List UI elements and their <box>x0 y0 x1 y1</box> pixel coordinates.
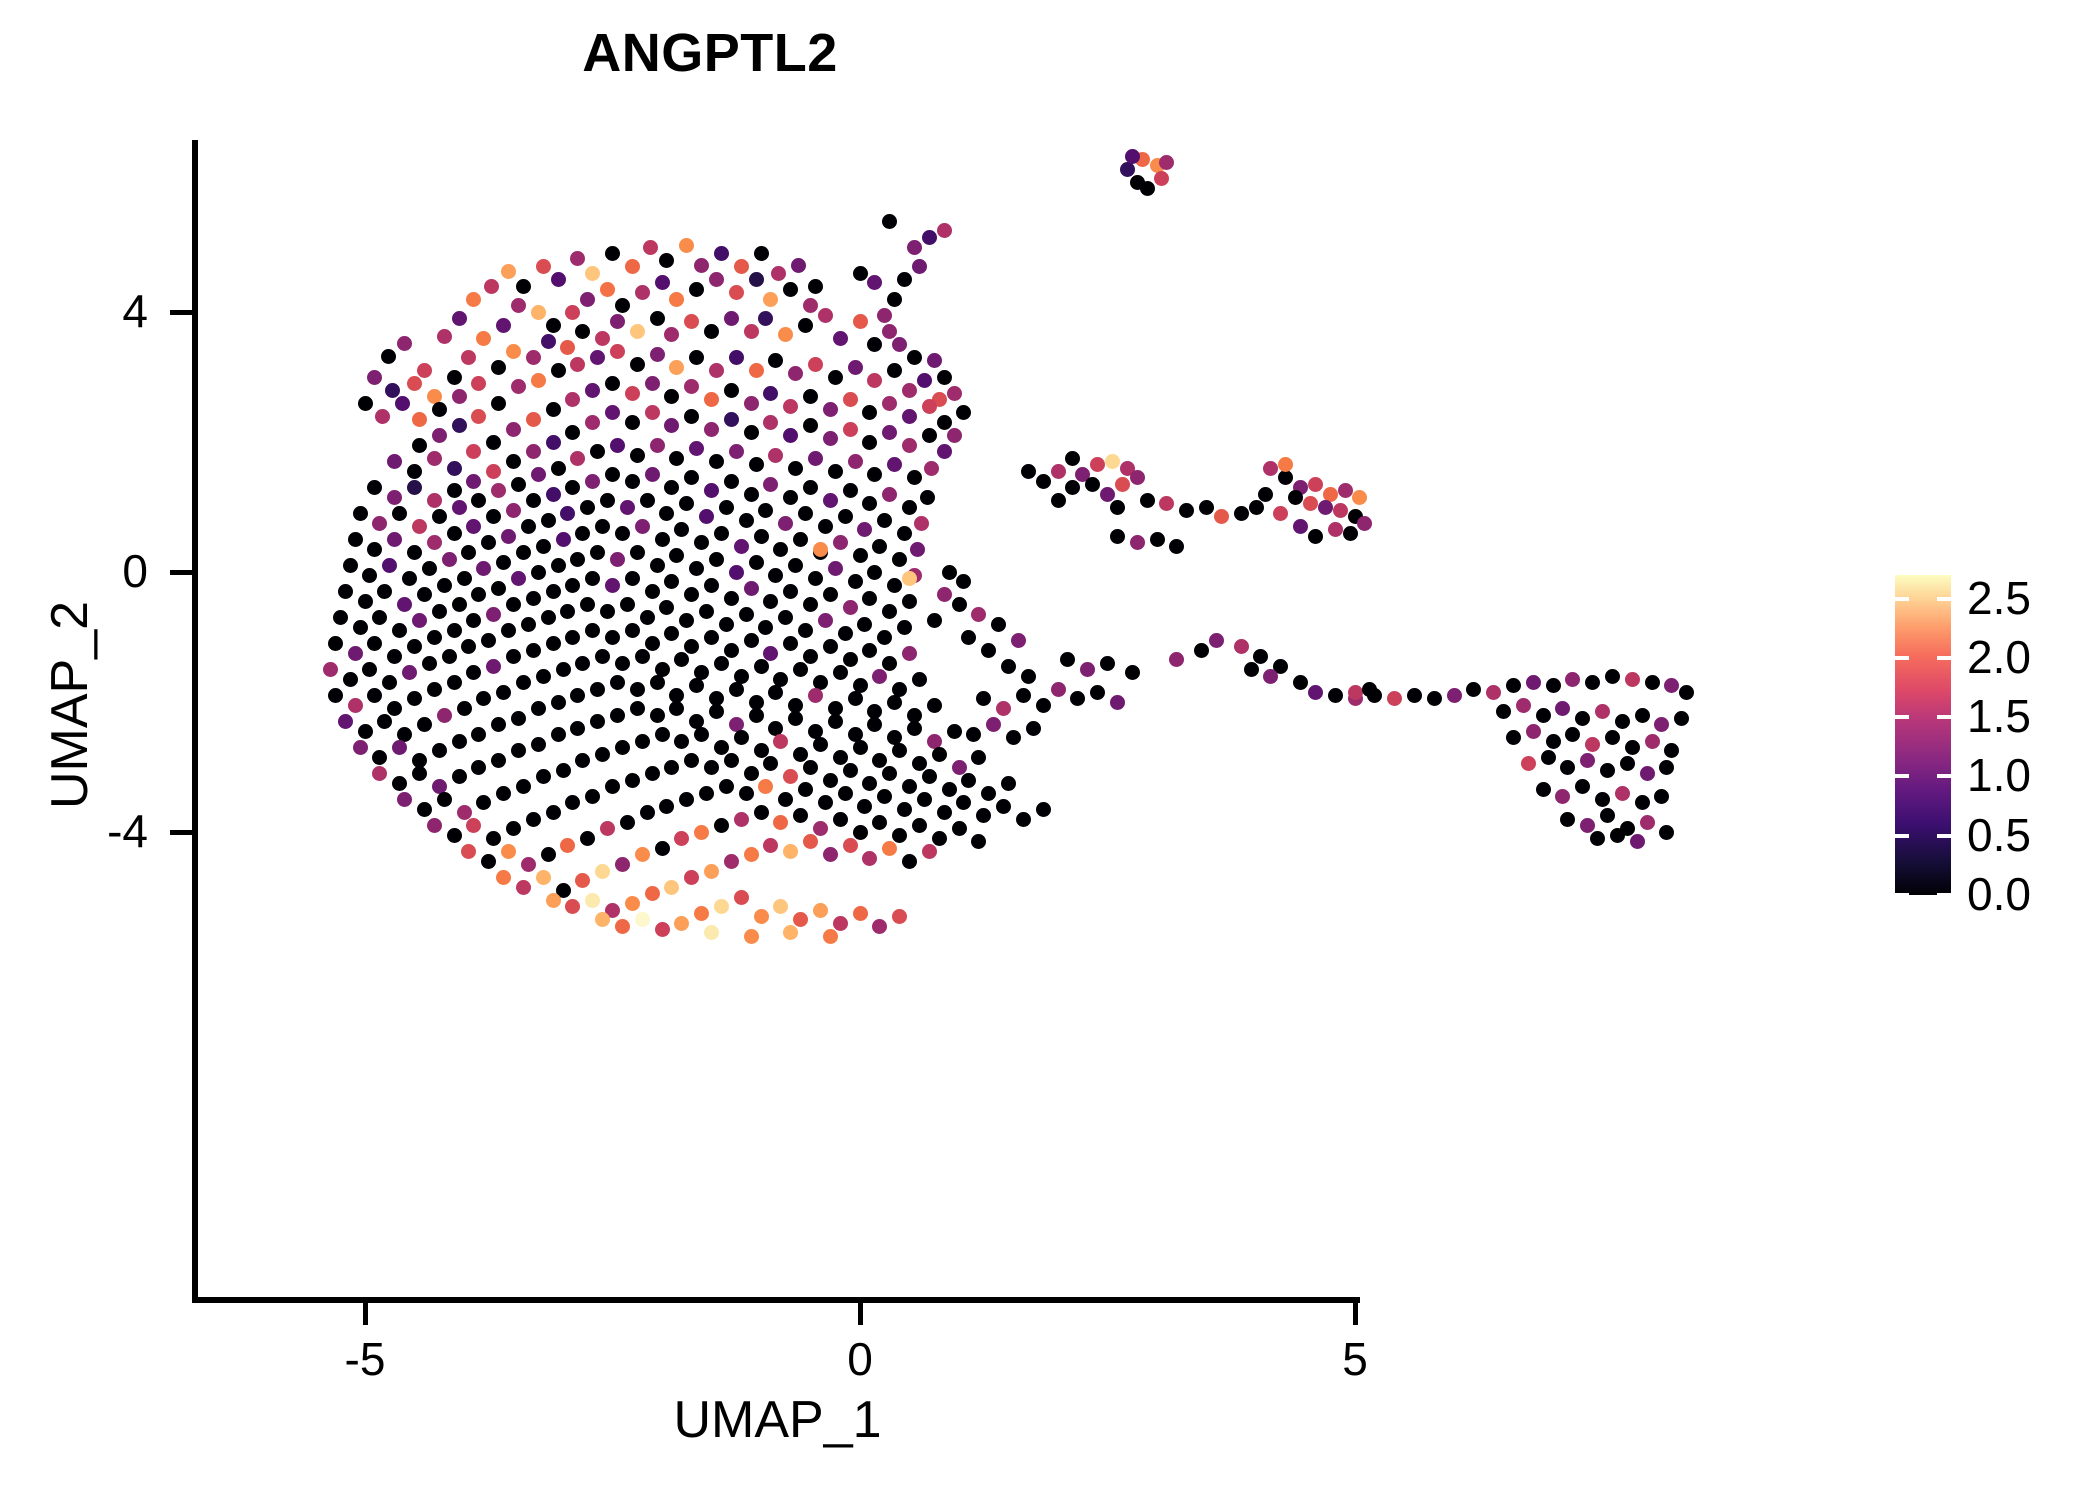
scatter-point <box>1496 704 1511 719</box>
scatter-point <box>1560 812 1575 827</box>
colorbar-tick-label: 1.5 <box>1967 689 2031 743</box>
x-tick-mark <box>1353 1303 1358 1325</box>
scatter-point <box>1387 691 1402 706</box>
x-tick-mark <box>858 1303 863 1325</box>
plot-panel <box>195 140 1360 1300</box>
scatter-point <box>1516 698 1531 713</box>
scatter-point <box>1580 753 1595 768</box>
colorbar-tick-mark <box>1937 834 1951 838</box>
x-axis-title: UMAP_1 <box>195 1390 1360 1450</box>
colorbar-tick-mark <box>1937 893 1951 897</box>
colorbar-tick-mark <box>1895 834 1909 838</box>
scatter-point <box>1486 685 1501 700</box>
scatter-point <box>1506 730 1521 745</box>
scatter-point <box>1546 734 1561 749</box>
scatter-point <box>1575 711 1590 726</box>
scatter-point <box>1506 678 1521 693</box>
colorbar-tick-mark <box>1937 597 1951 601</box>
scatter-point <box>1560 760 1575 775</box>
colorbar-tick-mark <box>1937 774 1951 778</box>
colorbar-legend: 2.52.01.51.00.50.0 <box>1895 575 2085 905</box>
scatter-point <box>1645 675 1660 690</box>
scatter-point <box>1362 682 1377 697</box>
scatter-point <box>1600 763 1615 778</box>
scatter-point <box>1536 782 1551 797</box>
scatter-point <box>1546 678 1561 693</box>
scatter-point <box>1615 714 1630 729</box>
scatter-point <box>1640 815 1655 830</box>
scatter-point <box>1367 688 1382 703</box>
scatter-point <box>1674 711 1689 726</box>
colorbar-tick-label: 2.5 <box>1967 571 2031 625</box>
x-tick-label: 0 <box>780 1332 940 1386</box>
colorbar-tick-mark <box>1895 656 1909 660</box>
x-tick-label: 5 <box>1275 1332 1435 1386</box>
colorbar-tick-label: 2.0 <box>1967 630 2031 684</box>
scatter-point <box>1630 834 1645 849</box>
y-tick-mark <box>170 830 192 835</box>
scatter-point <box>1640 766 1655 781</box>
x-tick-mark <box>363 1303 368 1325</box>
scatter-point <box>1679 685 1694 700</box>
scatter-point <box>1610 828 1625 843</box>
scatter-point <box>1605 730 1620 745</box>
colorbar-tick-mark <box>1937 656 1951 660</box>
x-tick-label: -5 <box>285 1332 445 1386</box>
scatter-point <box>1565 727 1580 742</box>
umap-feature-plot: ANGPTL2 -50540-4 UMAP_2 UMAP_1 2.52.01.5… <box>0 0 2100 1500</box>
scatter-point <box>1536 708 1551 723</box>
scatter-point <box>1521 756 1536 771</box>
y-tick-mark <box>170 570 192 575</box>
scatter-point <box>1620 756 1635 771</box>
scatter-point <box>1466 682 1481 697</box>
colorbar-tick-mark <box>1895 774 1909 778</box>
scatter-point <box>1541 750 1556 765</box>
colorbar-tick-label: 1.0 <box>1967 748 2031 802</box>
y-tick-label: 4 <box>28 284 148 338</box>
scatter-point <box>1580 818 1595 833</box>
colorbar-tick-label: 0.5 <box>1967 808 2031 862</box>
scatter-point <box>1565 672 1580 687</box>
scatter-point <box>1605 669 1620 684</box>
scatter-point <box>1664 743 1679 758</box>
colorbar-tick-mark <box>1895 597 1909 601</box>
scatter-point <box>1615 786 1630 801</box>
y-tick-mark <box>170 310 192 315</box>
scatter-point <box>1664 678 1679 693</box>
colorbar-tick-mark <box>1895 715 1909 719</box>
scatter-point <box>1625 672 1640 687</box>
scatter-point <box>1427 691 1442 706</box>
page-title: ANGPTL2 <box>0 22 1420 84</box>
colorbar-tick-mark <box>1937 715 1951 719</box>
scatter-point <box>1654 789 1669 804</box>
scatter-point <box>1590 831 1605 846</box>
scatter-point <box>1555 789 1570 804</box>
scatter-point <box>1595 792 1610 807</box>
scatter-point <box>1635 795 1650 810</box>
scatter-point <box>1526 675 1541 690</box>
scatter-point <box>1659 825 1674 840</box>
scatter-point <box>1407 688 1422 703</box>
scatter-point <box>1620 821 1635 836</box>
scatter-point <box>1447 688 1462 703</box>
colorbar-tick-label: 0.0 <box>1967 867 2031 921</box>
scatter-point <box>1635 708 1650 723</box>
scatter-point <box>1526 724 1541 739</box>
scatter-point <box>1585 675 1600 690</box>
colorbar-gradient <box>1895 575 1951 895</box>
scatter-point <box>1595 704 1610 719</box>
scatter-point <box>1654 717 1669 732</box>
scatter-point <box>1575 779 1590 794</box>
scatter-point <box>1625 740 1640 755</box>
scatter-point <box>1555 701 1570 716</box>
scatter-point <box>1585 737 1600 752</box>
scatter-point <box>1645 734 1660 749</box>
scatter-point <box>1659 760 1674 775</box>
y-axis-title: UMAP_2 <box>40 445 100 965</box>
scatter-point <box>1600 808 1615 823</box>
colorbar-tick-mark <box>1895 893 1909 897</box>
